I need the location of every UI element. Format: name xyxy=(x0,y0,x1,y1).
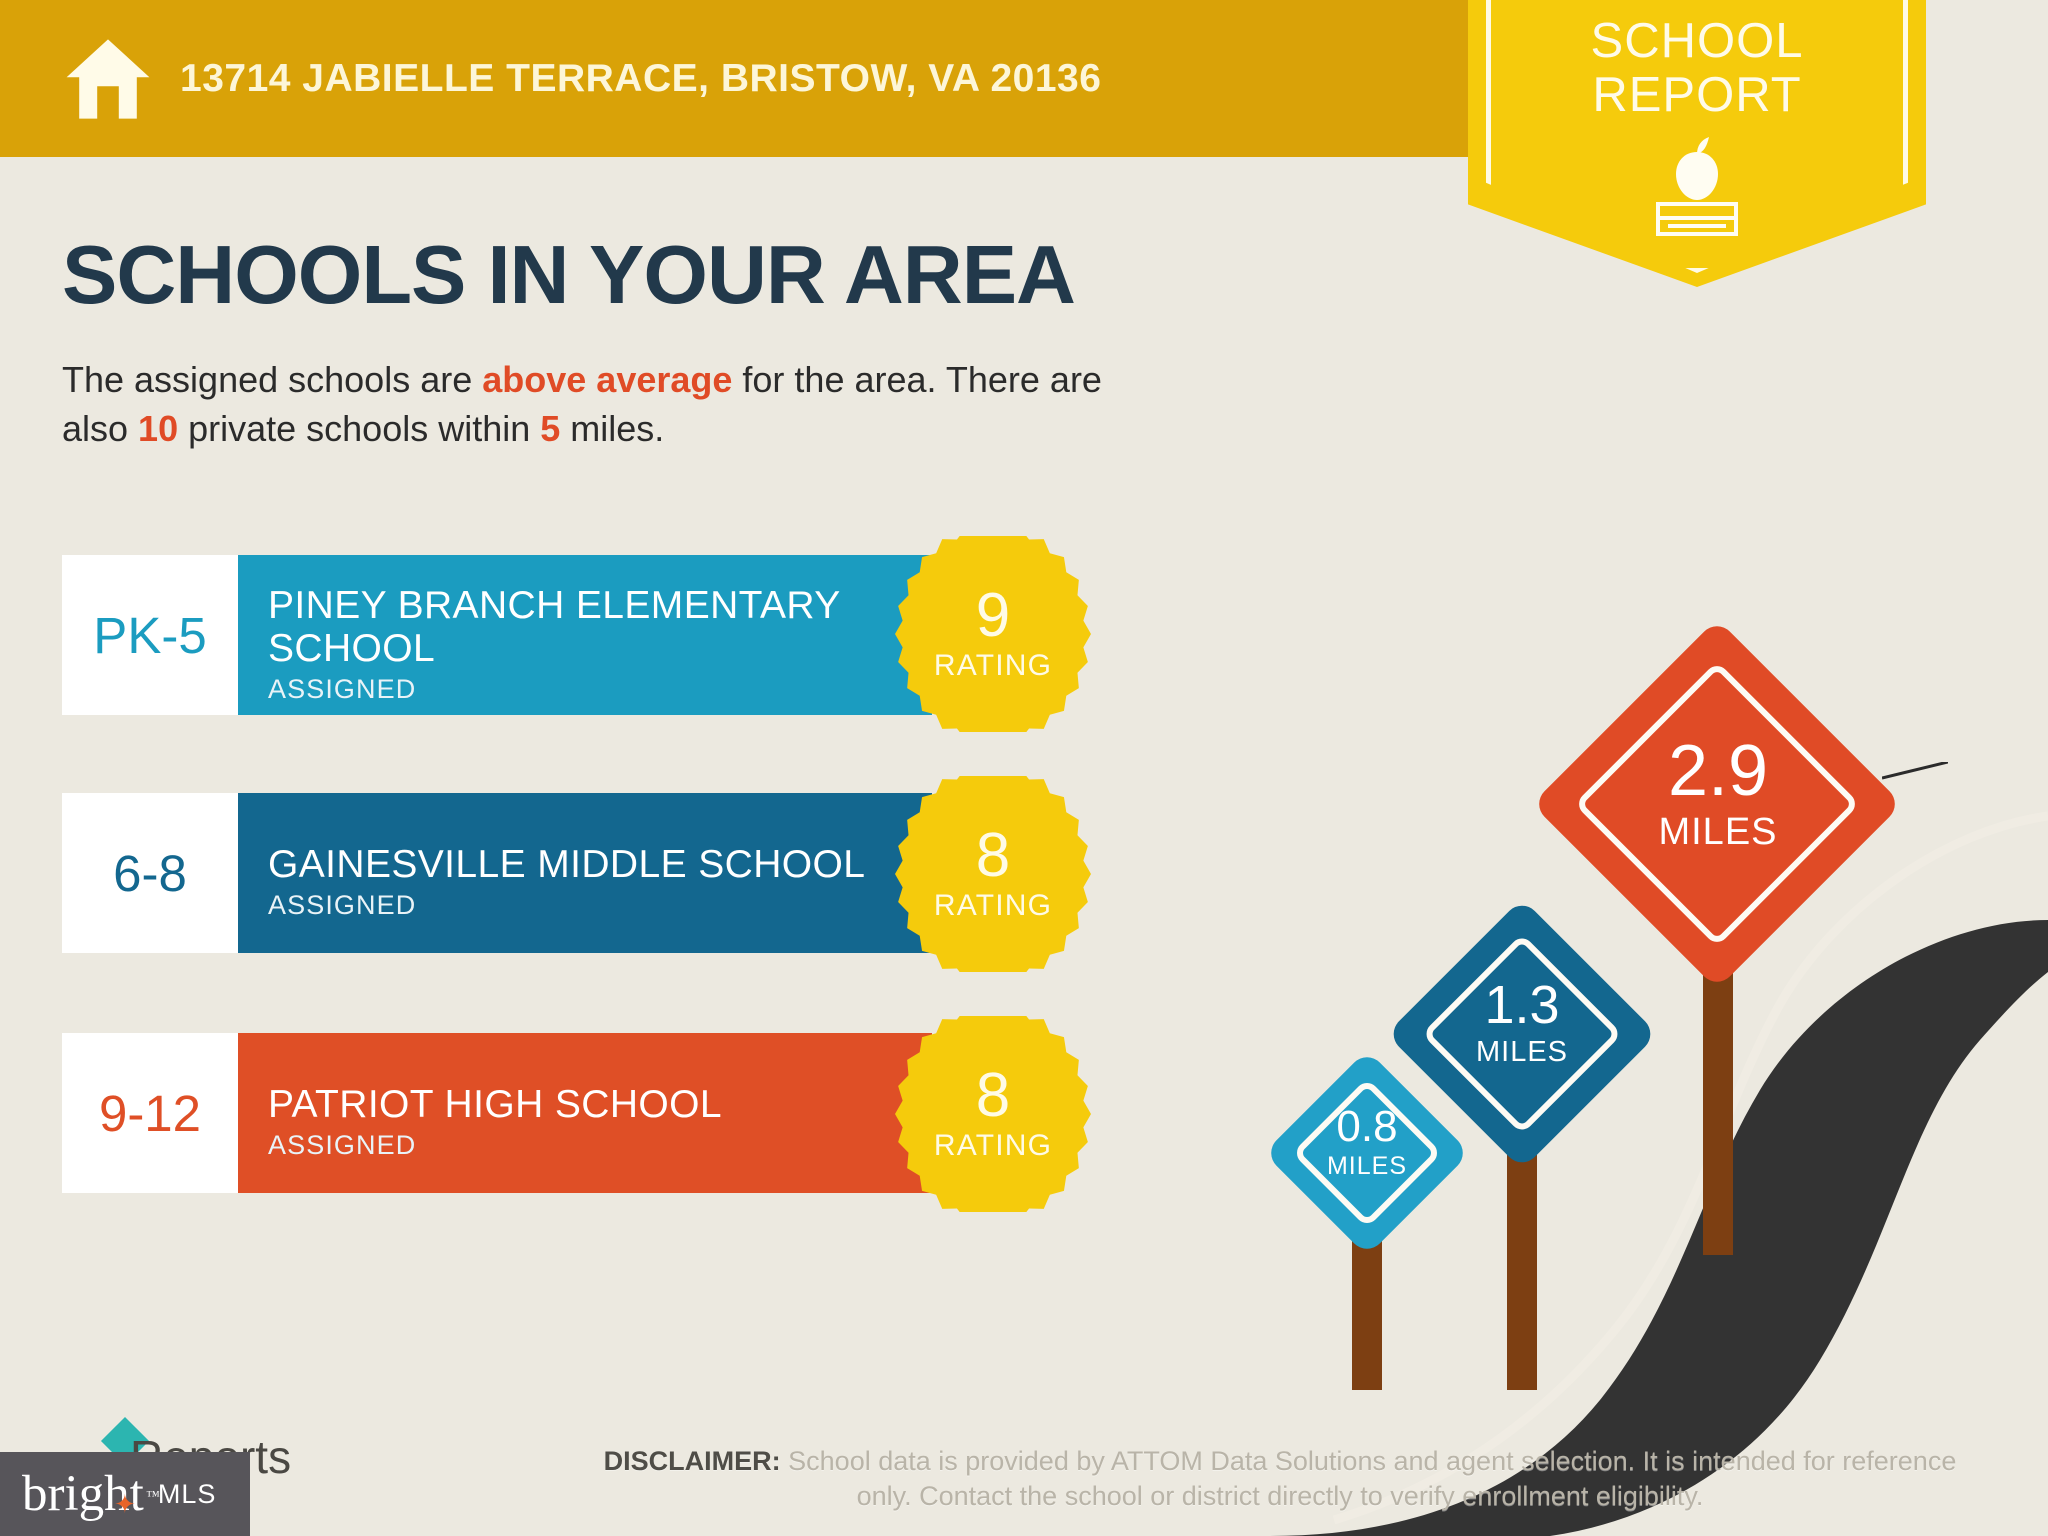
school-name: PINEY BRANCH ELEMENTARY SCHOOL xyxy=(268,584,932,670)
subtitle: The assigned schools are above average f… xyxy=(62,355,1102,453)
bright-mls-wordmark: bright ✦ ™ xyxy=(22,1469,144,1520)
disclaimer: DISCLAIMER: School data is provided by A… xyxy=(600,1444,1960,1514)
grade-range-box: PK-5 xyxy=(62,555,238,715)
grade-range-box: 9-12 xyxy=(62,1033,238,1193)
trademark-icon: ™ xyxy=(146,1471,160,1522)
grade-range-box: 6-8 xyxy=(62,793,238,953)
star-icon: ✦ xyxy=(114,1479,136,1530)
school-report-badge: SCHOOL REPORT xyxy=(1468,0,1926,287)
house-icon xyxy=(62,34,154,124)
rating-label: RATING xyxy=(934,649,1052,683)
school-info-box: GAINESVILLE MIDDLE SCHOOL ASSIGNED xyxy=(238,793,932,953)
rating-starburst: 8 RATING xyxy=(895,776,1091,972)
school-status: ASSIGNED xyxy=(268,890,932,921)
badge-line-2: REPORT xyxy=(1468,68,1926,122)
rating-label: RATING xyxy=(934,889,1052,923)
school-status: ASSIGNED xyxy=(268,674,932,705)
school-name: GAINESVILLE MIDDLE SCHOOL xyxy=(268,843,932,886)
school-name: PATRIOT HIGH SCHOOL xyxy=(268,1083,932,1126)
school-info-box: PATRIOT HIGH SCHOOL ASSIGNED xyxy=(238,1033,932,1193)
sign-post xyxy=(1703,945,1733,1255)
subtitle-highlight-above-average: above average xyxy=(482,359,732,400)
bright-mls-sub-label: MLS xyxy=(158,1479,217,1510)
disclaimer-label: DISCLAIMER: xyxy=(604,1446,781,1476)
page-title: SCHOOLS IN YOUR AREA xyxy=(62,227,1075,323)
subtitle-highlight-radius: 5 xyxy=(540,408,560,449)
distance-sign: 0.8 MILES xyxy=(1264,1050,1470,1390)
sign-border xyxy=(1574,661,1860,947)
school-row[interactable]: 6-8 GAINESVILLE MIDDLE SCHOOL ASSIGNED xyxy=(62,793,932,953)
subtitle-part-3: private schools within xyxy=(178,408,540,449)
school-row[interactable]: 9-12 PATRIOT HIGH SCHOOL ASSIGNED xyxy=(62,1033,932,1193)
rating-value: 8 xyxy=(976,1065,1010,1127)
bright-mls-logo: bright ✦ ™ MLS xyxy=(0,1452,250,1536)
school-row[interactable]: PK-5 PINEY BRANCH ELEMENTARY SCHOOL ASSI… xyxy=(62,555,932,715)
rating-value: 9 xyxy=(976,585,1010,647)
badge-text: SCHOOL REPORT xyxy=(1468,14,1926,122)
school-info-box: PINEY BRANCH ELEMENTARY SCHOOL ASSIGNED xyxy=(238,555,932,715)
badge-line-1: SCHOOL xyxy=(1468,14,1926,68)
subtitle-part-4: miles. xyxy=(560,408,664,449)
grade-range-label: 6-8 xyxy=(113,844,187,903)
rating-starburst: 8 RATING xyxy=(895,1016,1091,1212)
school-status: ASSIGNED xyxy=(268,1130,932,1161)
property-address: 13714 JABIELLE TERRACE, BRISTOW, VA 2013… xyxy=(180,57,1101,101)
header-bar: 13714 JABIELLE TERRACE, BRISTOW, VA 2013… xyxy=(0,0,1483,157)
apple-on-books-icon xyxy=(1654,132,1740,242)
subtitle-part-1: The assigned schools are xyxy=(62,359,482,400)
subtitle-highlight-private-count: 10 xyxy=(138,408,178,449)
rating-label: RATING xyxy=(934,1129,1052,1163)
rating-value: 8 xyxy=(976,825,1010,887)
grade-range-label: PK-5 xyxy=(93,606,206,665)
disclaimer-text: School data is provided by ATTOM Data So… xyxy=(781,1446,1957,1511)
grade-range-label: 9-12 xyxy=(99,1084,201,1143)
rating-starburst: 9 RATING xyxy=(895,536,1091,732)
